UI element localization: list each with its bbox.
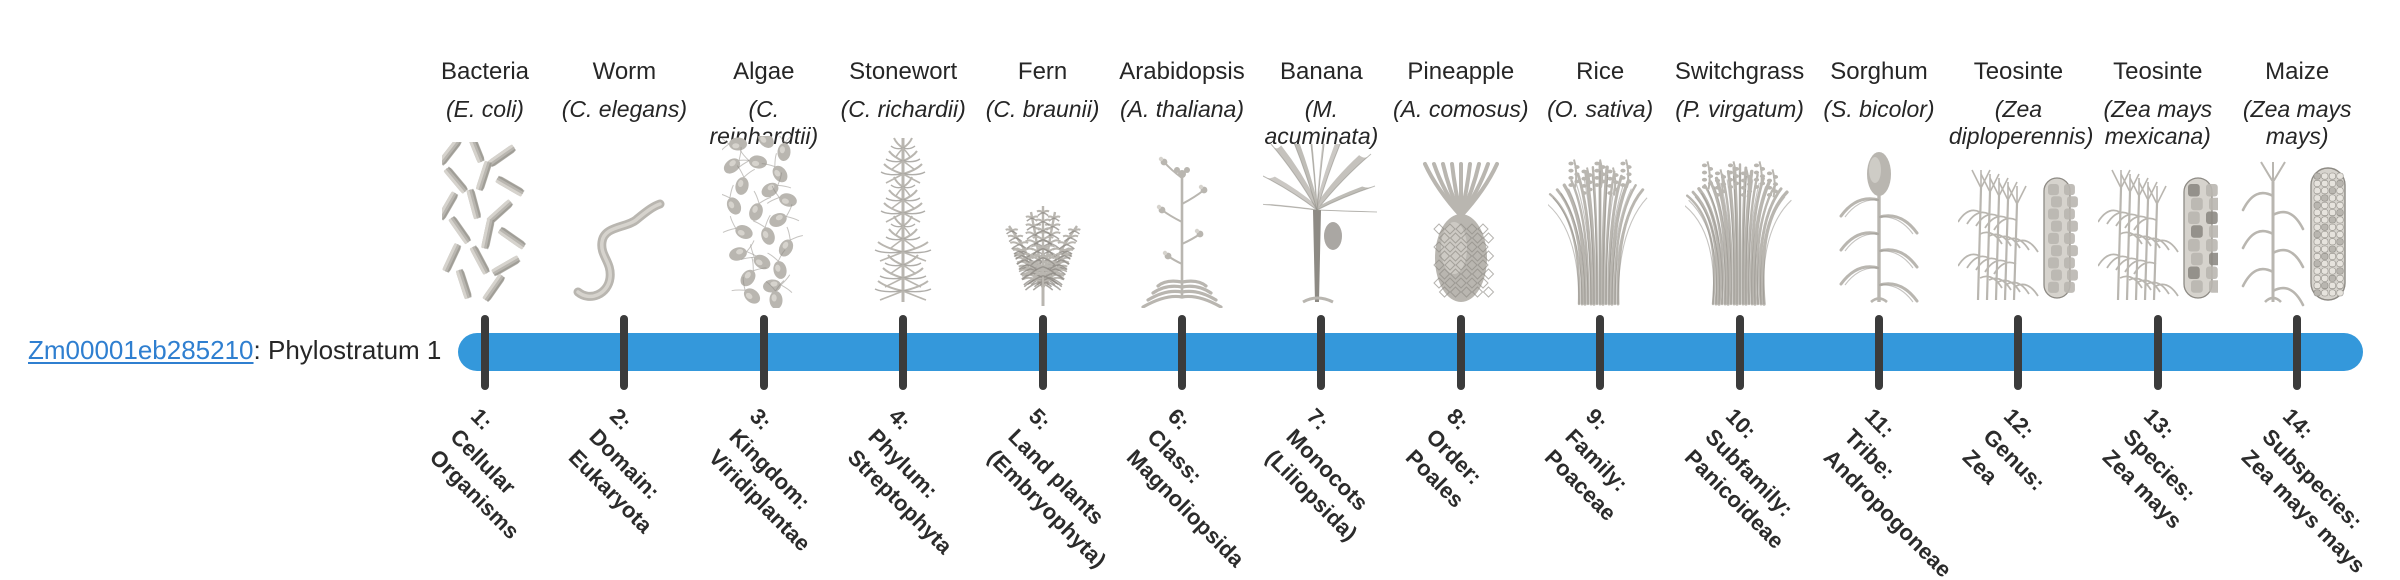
pineapple-icon [1391, 168, 1530, 308]
species-scientific-name: (C. braunii) [973, 96, 1112, 123]
species-common-name: Maize [2228, 58, 2367, 86]
phylostratum-tick[interactable] [481, 315, 489, 390]
banana-icon [1252, 168, 1391, 308]
worm-icon [555, 168, 694, 308]
species-scientific-name: (S. bicolor) [1810, 96, 1949, 123]
phylostratum-label: 14: Subspecies: Zea mays mays [2236, 402, 2400, 580]
gene-id-link[interactable]: Zm00001eb285210 [28, 335, 254, 365]
species-scientific-name: (A. comosus) [1391, 96, 1530, 123]
species-column: Switchgrass (P. virgatum) 10: Subfamily:… [1670, 0, 1809, 580]
species-common-name: Arabidopsis [1113, 58, 1252, 86]
phylostratum-tick[interactable] [1736, 315, 1744, 390]
species-column: Stonewort (C. richardii) 4: Phylum: Stre… [834, 0, 973, 580]
species-scientific-name: (M. acuminata) [1252, 96, 1391, 150]
fern-icon [973, 168, 1112, 308]
algae-icon [694, 168, 833, 308]
species-common-name: Rice [1531, 58, 1670, 86]
species-common-name: Fern [973, 58, 1112, 86]
gene-label-separator: : [254, 335, 268, 365]
species-common-name: Bacteria [416, 58, 555, 86]
species-scientific-name: (P. virgatum) [1670, 96, 1809, 123]
species-common-name: Algae [694, 58, 833, 86]
species-column: Fern (C. braunii) 5: Land plants (Embryo… [973, 0, 1112, 580]
phylostratum-tick[interactable] [1317, 315, 1325, 390]
phylostratum-tick[interactable] [760, 315, 768, 390]
species-common-name: Switchgrass [1670, 58, 1809, 86]
species-column: Arabidopsis (A. thaliana) 6: Class: Magn… [1113, 0, 1252, 580]
species-scientific-name: (C. elegans) [555, 96, 694, 123]
rice-icon [1531, 168, 1670, 308]
phylostratum-tick[interactable] [2154, 315, 2162, 390]
maize-icon [2228, 168, 2367, 308]
species-column: Worm (C. elegans) 2: Domain: Eukaryota [555, 0, 694, 580]
phylostratum-tick[interactable] [1596, 315, 1604, 390]
teosinte-diploperennis-icon [1949, 168, 2088, 308]
species-scientific-name: (E. coli) [416, 96, 555, 123]
species-common-name: Teosinte [1949, 58, 2088, 86]
phylostratum-tick[interactable] [620, 315, 628, 390]
species-common-name: Worm [555, 58, 694, 86]
species-scientific-name: (Zea diploperennis) [1949, 96, 2088, 150]
stonewort-icon [834, 168, 973, 308]
bacteria-icon [416, 168, 555, 308]
phylostratum-diagram: Zm00001eb285210: Phylostratum 1 Bacteria… [0, 0, 2400, 580]
species-scientific-name: (O. sativa) [1531, 96, 1670, 123]
teosinte-mexicana-icon [2088, 168, 2227, 308]
species-common-name: Teosinte [2088, 58, 2227, 86]
sorghum-icon [1810, 168, 1949, 308]
species-column: Maize (Zea mays mays) 14: Subspecies: Ze… [2228, 0, 2367, 580]
species-column: Banana (M. acuminata) 7: Monocots (Lilio… [1252, 0, 1391, 580]
species-scientific-name: (Zea mays mexicana) [2088, 96, 2227, 150]
species-column: Pineapple (A. comosus) 8: Order: Poales [1391, 0, 1530, 580]
phylostratum-tick[interactable] [1457, 315, 1465, 390]
species-column: Rice (O. sativa) 9: Family: Poaceae [1531, 0, 1670, 580]
species-column: Teosinte (Zea diploperennis) 12: Genus: … [1949, 0, 2088, 580]
gene-phylostratum-label: Zm00001eb285210: Phylostratum 1 [28, 337, 441, 363]
phylostratum-tick[interactable] [1875, 315, 1883, 390]
arabidopsis-icon [1113, 168, 1252, 308]
species-column: Bacteria (E. coli) [416, 0, 555, 580]
phylostratum-tick[interactable] [899, 315, 907, 390]
phylostratum-tick[interactable] [2293, 315, 2301, 390]
species-common-name: Pineapple [1391, 58, 1530, 86]
species-column: Teosinte (Zea mays mexicana) 13: Species… [2088, 0, 2227, 580]
species-common-name: Stonewort [834, 58, 973, 86]
species-common-name: Sorghum [1810, 58, 1949, 86]
switchgrass-icon [1670, 168, 1809, 308]
species-column: Sorghum (S. bicolor) 11: Tribe: Andropog… [1810, 0, 1949, 580]
species-scientific-name: (A. thaliana) [1113, 96, 1252, 123]
species-scientific-name: (C. richardii) [834, 96, 973, 123]
species-column: Algae (C. reinhardtii) [694, 0, 833, 580]
phylostratum-tick[interactable] [1039, 315, 1047, 390]
species-scientific-name: (Zea mays mays) [2228, 96, 2367, 150]
phylostratum-tick[interactable] [1178, 315, 1186, 390]
species-common-name: Banana [1252, 58, 1391, 86]
phylostratum-tick[interactable] [2014, 315, 2022, 390]
